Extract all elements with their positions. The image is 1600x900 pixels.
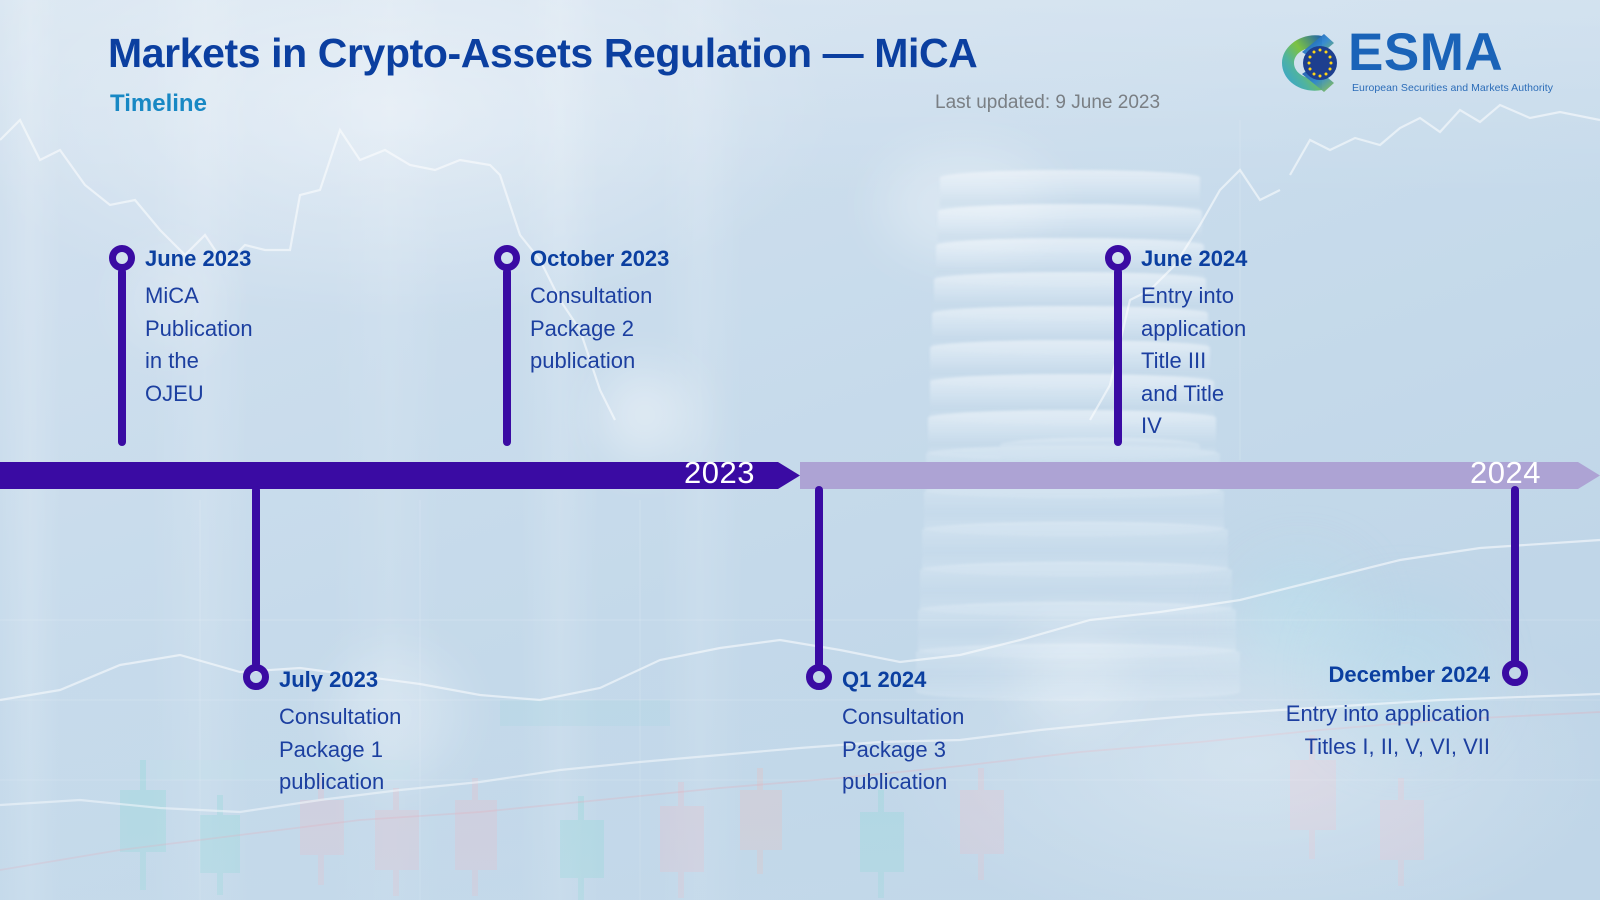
page-title: Markets in Crypto-Assets Regulation — Mi…: [108, 30, 977, 77]
milestone-description: Consultation Package 1 publication: [279, 701, 401, 799]
milestone-description: Entry into application Title III and Tit…: [1141, 280, 1246, 443]
timeline-year-label-2024: 2024: [1470, 455, 1541, 491]
milestone-node-icon[interactable]: [806, 664, 832, 690]
esma-tagline: European Securities and Markets Authorit…: [1352, 82, 1553, 94]
timeline-segment-2023: [0, 462, 800, 489]
milestone-date: October 2023: [530, 246, 669, 272]
milestone-date: December 2024: [1100, 662, 1490, 688]
milestone-node-icon[interactable]: [109, 245, 135, 271]
milestone-date: Q1 2024: [842, 667, 926, 693]
background-glass-bands: [0, 0, 1600, 900]
milestone-stem: [1511, 486, 1519, 664]
milestone-date: June 2024: [1141, 246, 1247, 272]
background-haze: [0, 0, 1600, 900]
milestone-stem: [1114, 268, 1122, 446]
milestone-date: July 2023: [279, 667, 378, 693]
timeline-year-label-2023: 2023: [684, 455, 755, 491]
milestone-node-icon[interactable]: [1105, 245, 1131, 271]
background-bokeh: [0, 0, 1600, 900]
milestone-node-icon[interactable]: [1502, 660, 1528, 686]
background-candlestick-chart: [0, 0, 1600, 900]
milestone-description: Entry into application Titles I, II, V, …: [1100, 698, 1490, 763]
esma-emblem-icon: [1272, 26, 1346, 100]
milestone-date: June 2023: [145, 246, 251, 272]
milestone-node-icon[interactable]: [494, 245, 520, 271]
milestone-description: Consultation Package 2 publication: [530, 280, 652, 378]
milestone-description: Consultation Package 3 publication: [842, 701, 964, 799]
header: Markets in Crypto-Assets Regulation — Mi…: [0, 0, 1600, 135]
last-updated-label: Last updated: 9 June 2023: [935, 92, 1160, 114]
background-trend-lines: [0, 0, 1600, 900]
milestone-description: MiCA Publication in the OJEU: [145, 280, 253, 410]
milestone-stem: [503, 268, 511, 446]
milestone-stem: [252, 486, 260, 668]
esma-logo: ESMA European Securities and Markets Aut…: [1272, 22, 1527, 104]
milestone-stem: [118, 268, 126, 446]
mica-timeline-infographic: Markets in Crypto-Assets Regulation — Mi…: [0, 0, 1600, 900]
milestone-node-icon[interactable]: [243, 664, 269, 690]
page-subtitle: Timeline: [110, 90, 207, 118]
milestone-stem: [815, 486, 823, 668]
esma-wordmark: ESMA: [1348, 26, 1503, 79]
